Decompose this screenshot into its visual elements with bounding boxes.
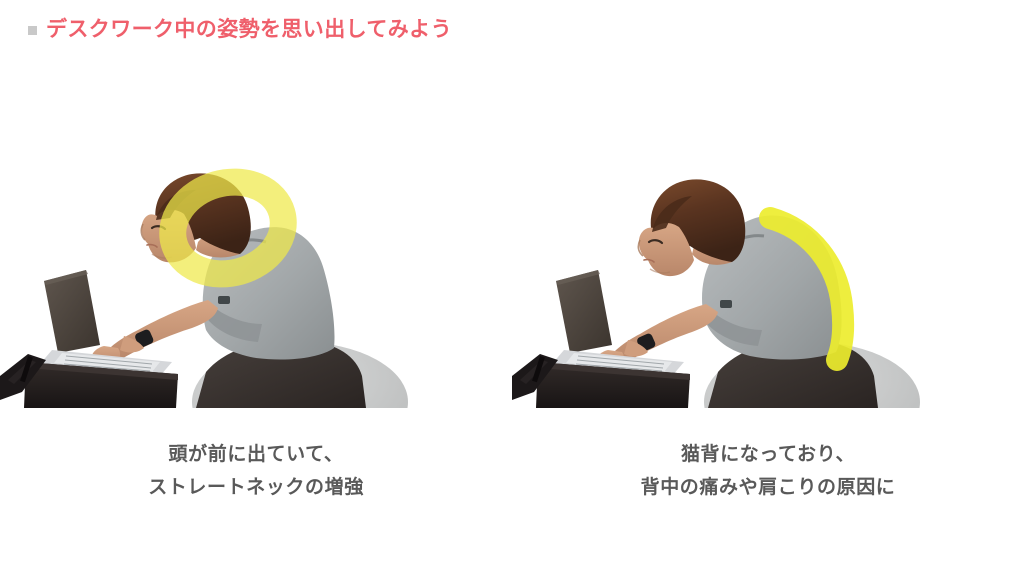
caption-left-line-1: 頭が前に出ていて、 bbox=[0, 438, 512, 471]
panel-row: 頭が前に出ていて、 ストレートネックの増強 bbox=[0, 150, 1024, 550]
photo-right-rounded-back bbox=[512, 150, 1024, 408]
panel-left: 頭が前に出ていて、 ストレートネックの増強 bbox=[0, 150, 512, 550]
page-title: デスクワーク中の姿勢を思い出してみよう bbox=[28, 14, 452, 44]
square-bullet-icon bbox=[28, 26, 37, 35]
caption-right: 猫背になっており、 背中の痛みや肩こりの原因に bbox=[512, 438, 1024, 505]
caption-right-line-2: 背中の痛みや肩こりの原因に bbox=[512, 471, 1024, 504]
panel-right: 猫背になっており、 背中の痛みや肩こりの原因に bbox=[512, 150, 1024, 550]
page-title-text: デスクワーク中の姿勢を思い出してみよう bbox=[46, 19, 452, 40]
caption-left-line-2: ストレートネックの増強 bbox=[0, 471, 512, 504]
photo-left-forward-head bbox=[0, 150, 512, 408]
caption-left: 頭が前に出ていて、 ストレートネックの増強 bbox=[0, 438, 512, 505]
slide-root: デスクワーク中の姿勢を思い出してみよう bbox=[0, 0, 1024, 576]
caption-right-line-1: 猫背になっており、 bbox=[512, 438, 1024, 471]
